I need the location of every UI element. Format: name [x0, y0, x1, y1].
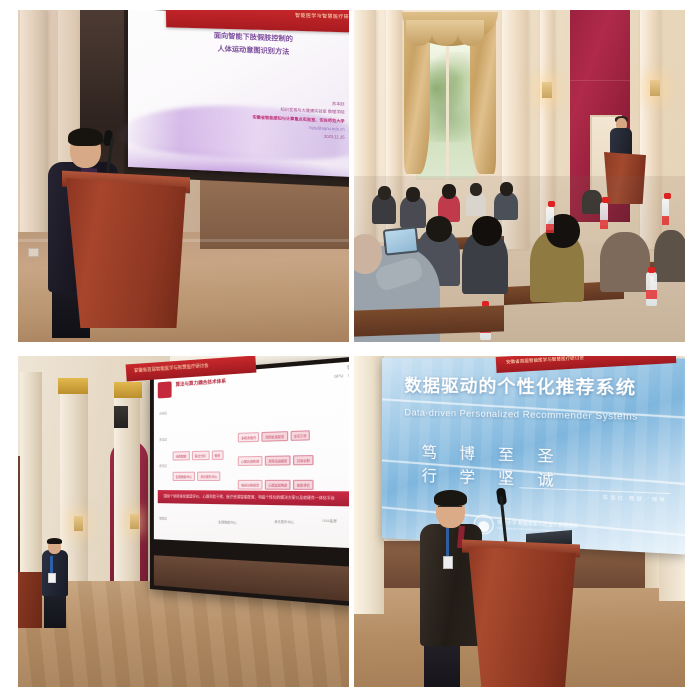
water-bottle [600, 202, 608, 226]
chip-label: GPU [334, 374, 343, 379]
model-box-row: 情感识别模型 心理发展构建 效果评估 [238, 480, 314, 490]
projection-screen: 面向智能下肢假肢控制的 人体运动意图识别方法 苏本跃 知识发现与大健康实验室 数… [128, 10, 349, 177]
name-badge [443, 556, 453, 569]
wall-socket [28, 248, 39, 257]
wall-pillar [20, 10, 46, 256]
audience-member [494, 192, 518, 220]
model-box: 风险演进模型 [265, 455, 291, 465]
smartphone-camera [383, 226, 420, 255]
row-label: 算法层 [157, 439, 170, 442]
speaker-podium [18, 572, 42, 628]
algo-box: 消费数据 [173, 451, 190, 461]
slide-title: 算法与算力耦合技术体系 [176, 378, 226, 388]
row-label: 框架层 [157, 466, 170, 469]
model-box: 效果评估 [293, 480, 313, 490]
ceiling-speaker-box [114, 406, 128, 428]
venue-banner-text: 安徽省首届智能医学与智慧医疗研讨会 [506, 356, 584, 365]
calligraphy-line-1: 笃 博 至 圣 [422, 442, 603, 471]
model-box: 情感识别模型 [238, 480, 263, 490]
led-wall-slide: 算法与算力耦合技术体系 智能医疗芯片 GPU FPGA TPU 应用层 算法层 … [154, 359, 349, 549]
model-box: 交互引导 [290, 430, 310, 441]
speaker-hair [47, 538, 62, 544]
hall-column [20, 372, 42, 590]
venue-banner-text: 安徽省首届智能医学与智慧医疗研讨会 [134, 363, 209, 374]
slide-hardware-labels: 智能医疗芯片 GPU FPGA TPU [251, 362, 349, 387]
slide-authors: 陈恩红 教授／博导 [510, 491, 667, 504]
gold-column-capital [114, 382, 142, 398]
model-box-row: 心理应激检测 风险演进模型 异常识别 [238, 455, 314, 466]
audience-member [378, 186, 391, 200]
audience-member [472, 216, 502, 246]
curtain-swag [432, 20, 458, 46]
speaker-hair [434, 490, 467, 506]
conference-table [354, 305, 504, 336]
slide-diagonal-line [382, 397, 685, 420]
audience-member [442, 184, 456, 199]
institution-name-cn: 安徽大学 数据智能与社会计算研究所 [497, 520, 578, 529]
slide-architecture-grid: 应用层 算法层 框架层 硬件层 数据层 多模态融合 风险处置模型 交互引导 心理… [157, 393, 349, 531]
infra-label: 生理数据中心 [218, 520, 236, 525]
photo-panel-bottom-left: 算法与算力耦合技术体系 智能医疗芯片 GPU FPGA TPU 应用层 算法层 … [18, 356, 349, 687]
algo-box-row: 消费数据 算法分析 视觉 [173, 450, 224, 460]
window-mullion [446, 40, 449, 180]
model-box: 心理应激检测 [238, 456, 263, 466]
speaker-podium [66, 178, 186, 328]
infra-label: 消息服务中心 [274, 519, 294, 524]
water-bottle [546, 206, 554, 230]
algo-box-row: 生理数据中心 消息服务中心 [173, 471, 221, 481]
chip-label: FPGA [348, 373, 349, 378]
speaker-legs [424, 640, 460, 687]
slide-title-cn: 数据驱动的个性化推荐系统 [405, 371, 667, 400]
wall-sconce-light [130, 514, 139, 529]
curtain-swag [458, 20, 484, 46]
audience-member [406, 187, 420, 202]
lanyard [50, 556, 53, 574]
model-box: 多模态融合 [238, 432, 260, 442]
model-box: 心理发展构建 [265, 480, 291, 490]
algo-box: 消息服务中心 [197, 471, 220, 481]
speaker-legs [44, 594, 66, 628]
algo-box: 视觉 [211, 450, 223, 460]
audience-member [600, 232, 650, 292]
wall-sconce-light [542, 82, 552, 98]
audience-member [500, 182, 513, 196]
audience-member [654, 230, 685, 282]
photo-panel-top-left: 面向智能下肢假肢控制的 人体运动意图识别方法 苏本跃 知识发现与大健康实验室 数… [18, 10, 349, 342]
slide-logo [158, 381, 172, 398]
slide-footer-text: 围绕个体精准化健康评价、心理风险干预、医疗资源智能配置，构建个性化的解决方案以及… [164, 493, 335, 500]
row-label: 应用层 [157, 413, 170, 417]
photo-panel-bottom-right: 数据驱动的个性化推荐系统 Data-driven Personalized Re… [354, 356, 685, 687]
slide-calligraphy: 笃 博 至 圣 行 学 坚 诚 [422, 442, 603, 496]
wall-sconce-light [650, 80, 660, 96]
curtain-swag [406, 20, 432, 46]
audience-member [582, 190, 602, 214]
audience-member [426, 216, 452, 242]
lanyard [446, 528, 449, 558]
algo-box: 生理数据中心 [173, 472, 196, 481]
model-box: 异常识别 [293, 455, 313, 465]
slide-title-en: Data-driven Personalized Recommender Sys… [405, 407, 681, 422]
model-box-row: 多模态融合 风险处置模型 交互引导 [238, 430, 310, 442]
speaker-hair [68, 128, 103, 146]
water-bottle [646, 272, 657, 306]
speaker-glasses-icon [438, 506, 462, 512]
model-box: 风险处置模型 [262, 431, 288, 442]
water-bottle [662, 198, 669, 218]
hall-column [354, 356, 384, 614]
algo-box: 算法分析 [192, 451, 209, 461]
slide-author-rule [519, 487, 671, 494]
led-wall-frame: 算法与算力耦合技术体系 智能医疗芯片 GPU FPGA TPU 应用层 算法层 … [150, 356, 349, 609]
infra-label: OSS集群 [322, 518, 336, 523]
photo-collage: 面向智能下肢假肢控制的 人体运动意图识别方法 苏本跃 知识发现与大健康实验室 数… [18, 10, 685, 687]
gold-column-capital [58, 378, 88, 394]
photo-panel-top-right [354, 10, 685, 342]
venue-banner-text: 智能医学与智慧医疗研讨会 [295, 12, 349, 21]
slide-diagonal-line [382, 458, 685, 487]
wall-sconce-light [74, 516, 83, 531]
audience-member [470, 183, 482, 196]
slide-presenter-block: 苏本跃 知识发现与大健康实验室 数理学院 安徽省智能感知与计算重点实验室、安庆师… [162, 93, 344, 142]
speaker-podium [466, 546, 576, 687]
name-badge [48, 573, 56, 583]
row-label: 数据层 [157, 518, 170, 521]
